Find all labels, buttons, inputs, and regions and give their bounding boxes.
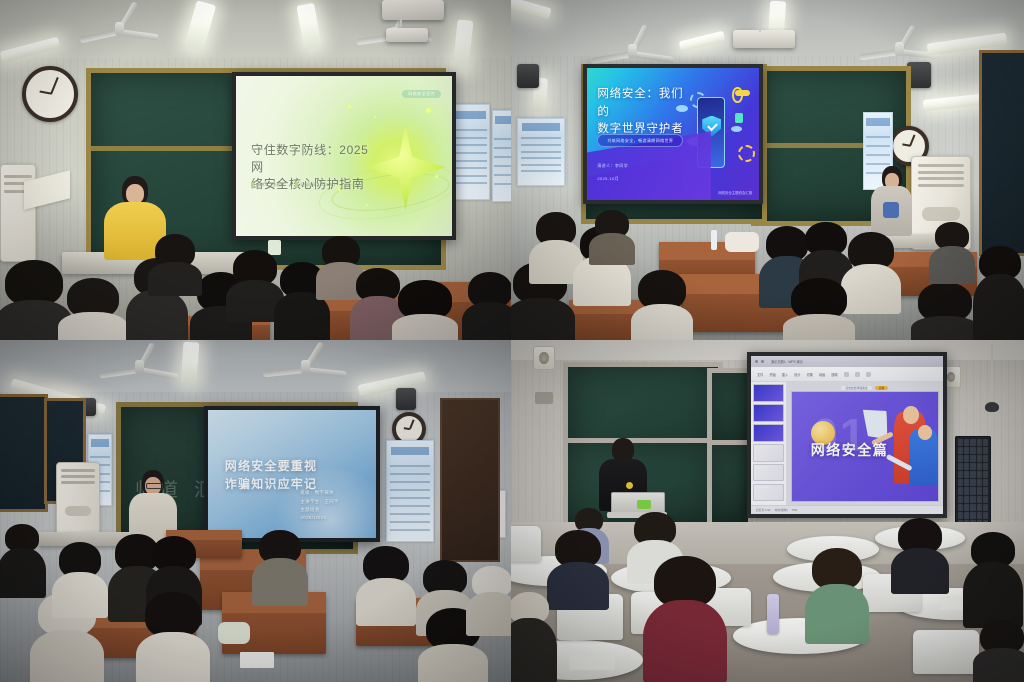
- student-presenter: [869, 166, 913, 236]
- paper-on-table: [569, 654, 615, 670]
- ceiling-projector: [382, 0, 444, 20]
- air-conditioner: [56, 462, 100, 540]
- window: [979, 50, 1024, 256]
- slide-canvas-area: 点击此处添加备注 演讲 01: [787, 382, 943, 505]
- projection-screen-frame: 网络安全：我们的 数字世界守护者 共筑网络安全，畅游清朗网络世界 演讲人：李同学…: [583, 64, 763, 204]
- window-dot: [761, 360, 764, 363]
- slide-title-line1: 守住数字防线：2025网: [251, 142, 372, 177]
- slide-tag: 网络安全宣传: [402, 90, 441, 98]
- door: [440, 398, 500, 562]
- student: [891, 518, 949, 590]
- student: [911, 282, 979, 340]
- projection-screen: 演示文稿1 - WPS 演示 文件 开始 插入 设计 切换 动画 放映: [751, 356, 943, 514]
- wall-speaker: [396, 388, 416, 410]
- ribbon-item[interactable]: 插入: [782, 372, 788, 377]
- green-object: [637, 500, 651, 509]
- canvas-toolbar: 点击此处添加备注 演讲: [791, 384, 939, 391]
- slide-credit: 网络安全主题班会汇报: [718, 190, 752, 195]
- water-bottle: [711, 230, 717, 250]
- slide-title: 网络安全：我们的 数字世界守护者: [597, 86, 686, 138]
- thermos-bottle: [767, 594, 779, 634]
- app-ribbon: 文件 开始 插入 设计 切换 动画 放映: [751, 367, 943, 382]
- status-language: 中文(简体): [775, 508, 788, 512]
- slide-blue: 网络安全：我们的 数字世界守护者 共筑网络安全，畅游清朗网络世界 演讲人：李同学…: [587, 68, 759, 200]
- ceiling-fan: [98, 354, 180, 380]
- bag-on-desk: [725, 232, 759, 252]
- wall-poster: [452, 104, 490, 200]
- slide-meta-1: 主讲人：张老师: [256, 182, 284, 188]
- ribbon-item[interactable]: 动画: [819, 372, 825, 377]
- ribbon-item[interactable]: 文件: [757, 372, 763, 377]
- wall-poster: [386, 440, 434, 542]
- slide-title-line1: 网络安全要重视: [225, 457, 317, 475]
- slide-meta-1: 班级：数字媒体: [300, 489, 338, 497]
- student: [466, 566, 511, 634]
- student: [58, 278, 128, 340]
- chair: [913, 630, 979, 674]
- wall-poster: [492, 110, 511, 202]
- slide-canvas[interactable]: 01 网络安全篇: [791, 391, 939, 502]
- projection-screen: 网络安全要重视 诈骗知识应牢记 班级：数字媒体 主讲学生：王同学 主题班会 20…: [208, 410, 376, 538]
- student: [252, 530, 308, 602]
- projection-screen: 网络安全宣传 守住数字防线：2025网 络安全核心防护指南 主讲人：张老师 汇报…: [236, 76, 452, 236]
- ceiling-fan: [589, 38, 675, 64]
- student: [805, 548, 869, 640]
- slide-subtitle-pill: 共筑网络安全，畅游清朗网络世界: [597, 134, 683, 147]
- teacher-face: [126, 184, 144, 204]
- slide-meta-4: 2025/10/26: [300, 514, 338, 522]
- slide-thumbnail[interactable]: [753, 444, 784, 461]
- ribbon-item[interactable]: 放映: [831, 372, 837, 377]
- ceiling-fan: [262, 354, 348, 380]
- ribbon-item[interactable]: 开始: [769, 372, 775, 377]
- wall-clock: [22, 66, 78, 122]
- student: [356, 546, 416, 622]
- student: [783, 278, 855, 340]
- student: [148, 234, 202, 294]
- ribbon-button[interactable]: [855, 372, 860, 377]
- ceiling: [0, 340, 511, 392]
- slide-meta-2: 主讲学生：王同学: [300, 498, 338, 506]
- ribbon-item[interactable]: 切换: [807, 372, 813, 377]
- student: [136, 592, 210, 682]
- projection-screen: 网络安全：我们的 数字世界守护者 共筑网络安全，畅游清朗网络世界 演讲人：李同学…: [587, 68, 759, 200]
- student: [631, 270, 693, 340]
- student: [511, 592, 557, 682]
- person-head-illustration: [918, 425, 933, 440]
- panel-top-right: 网络安全：我们的 数字世界守护者 共筑网络安全，畅游清朗网络世界 演讲人：李同学…: [511, 0, 1024, 340]
- hanging-lamp: [985, 402, 999, 412]
- projection-screen-frame: 演示文稿1 - WPS 演示 文件 开始 插入 设计 切换 动画 放映: [747, 352, 947, 518]
- presentation-app: 演示文稿1 - WPS 演示 文件 开始 插入 设计 切换 动画 放映: [751, 356, 943, 514]
- slide-thumbnail[interactable]: [753, 404, 784, 421]
- slide-thumbnail[interactable]: [753, 384, 784, 401]
- app-title-bar: 演示文稿1 - WPS 演示: [751, 356, 943, 367]
- slide-meta-2: 2025.10月: [597, 176, 619, 182]
- hoodie-logo: [626, 482, 633, 489]
- student: [973, 246, 1024, 340]
- student: [0, 524, 46, 596]
- wall-speaker: [517, 64, 539, 88]
- chair: [511, 526, 541, 562]
- projector-rod: [759, 14, 761, 32]
- student: [929, 222, 975, 282]
- present-button[interactable]: 演讲: [875, 386, 889, 390]
- bag-on-desk: [218, 622, 250, 644]
- panel-bottom-right: 演示文稿1 - WPS 演示 文件 开始 插入 设计 切换 动画 放映: [511, 340, 1024, 682]
- slide-green: 网络安全宣传 守住数字防线：2025网 络安全核心防护指南 主讲人：张老师 汇报…: [236, 76, 452, 236]
- panel-bottom-left: 师道 汇 班会 网络安全要重视: [0, 340, 511, 682]
- paper-on-desk: [240, 652, 274, 668]
- student: [462, 272, 511, 340]
- wall-cabinet: [0, 164, 36, 262]
- app-workspace: 点击此处添加备注 演讲 01: [751, 382, 943, 505]
- status-slide-index: 幻灯片 1/12: [756, 508, 771, 512]
- slide-title-line1: 网络安全：我们的: [597, 86, 686, 121]
- slide-pale: 网络安全要重视 诈骗知识应牢记 班级：数字媒体 主讲学生：王同学 主题班会 20…: [208, 410, 376, 538]
- student: [392, 280, 458, 340]
- glasses-icon: [146, 483, 163, 489]
- slide-meta-1: 演讲人：李同学: [597, 163, 628, 169]
- slide-thumbnail[interactable]: [753, 464, 784, 481]
- person-head-illustration: [903, 406, 919, 423]
- ribbon-item[interactable]: 设计: [794, 372, 800, 377]
- student: [589, 210, 635, 262]
- ribbon-button[interactable]: [844, 372, 849, 377]
- student: [643, 556, 727, 682]
- projection-screen-frame: 网络安全宣传 守住数字防线：2025网 络安全核心防护指南 主讲人：张老师 汇报…: [232, 72, 456, 240]
- ceiling-projector: [733, 30, 795, 48]
- photo-collage: 网络安全宣传 守住数字防线：2025网 络安全核心防护指南 主讲人：张老师 汇报…: [0, 0, 1024, 682]
- window: [0, 394, 48, 512]
- ribbon-button[interactable]: [866, 372, 871, 377]
- ceiling-light: [181, 341, 200, 384]
- projection-screen-frame: 网络安全要重视 诈骗知识应牢记 班级：数字媒体 主讲学生：王同学 主题班会 20…: [204, 406, 380, 542]
- slide-meta-3: 主题班会: [300, 506, 338, 514]
- slide-title: 网络安全篇: [811, 440, 889, 460]
- slide-meta-2: 汇报时间：2025.10: [300, 182, 334, 188]
- student: [963, 532, 1023, 626]
- ceiling-fan: [80, 14, 158, 44]
- board-mount: [535, 392, 553, 404]
- canvas-note-chip[interactable]: 点击此处添加备注: [841, 386, 871, 390]
- slide-meta: 班级：数字媒体 主讲学生：王同学 主题班会 2025/10/26: [300, 489, 338, 522]
- status-zoom[interactable]: 75%: [792, 508, 798, 512]
- student: [52, 542, 108, 614]
- slide-purple: 01 网络安全篇: [792, 392, 938, 501]
- slide-thumbnail-panel[interactable]: [751, 382, 787, 505]
- slide-thumbnail[interactable]: [753, 484, 784, 501]
- panel-top-left: 网络安全宣传 守住数字防线：2025网 络安全核心防护指南 主讲人：张老师 汇报…: [0, 0, 511, 340]
- slide-title: 网络安全要重视 诈骗知识应牢记: [225, 457, 317, 493]
- app-title: 演示文稿1 - WPS 演示: [771, 359, 803, 364]
- hanging-cable: [991, 344, 993, 404]
- wall-speaker: [533, 346, 555, 370]
- window-dot: [755, 360, 758, 363]
- key-icon: [735, 90, 750, 95]
- wall-poster: [517, 118, 565, 186]
- app-status-bar: 幻灯片 1/12 中文(简体) 75%: [751, 505, 943, 514]
- slide-meta: 主讲人：张老师 汇报时间：2025.10: [251, 182, 334, 188]
- hoodie-print: [883, 202, 899, 218]
- student: [973, 620, 1024, 682]
- slide-thumbnail[interactable]: [753, 424, 784, 441]
- projector-body: [386, 28, 428, 42]
